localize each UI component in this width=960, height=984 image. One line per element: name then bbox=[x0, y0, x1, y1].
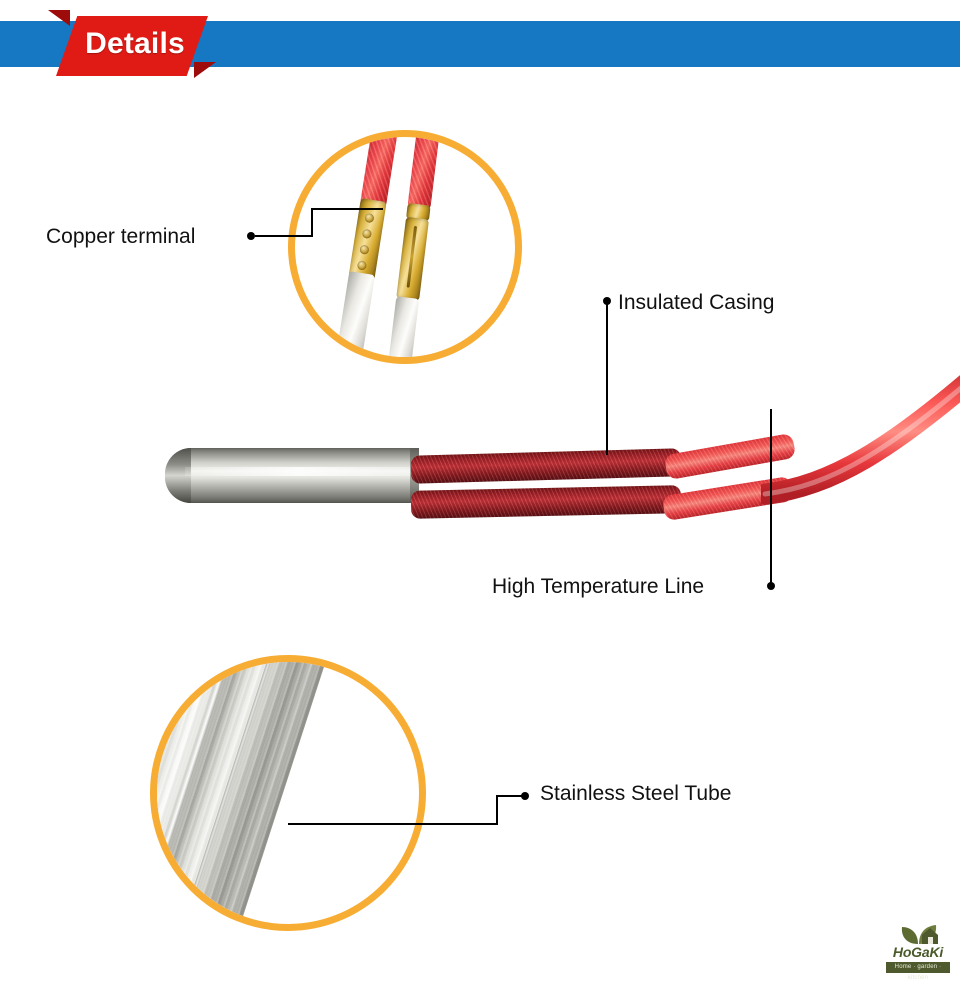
leader-copper-h2 bbox=[311, 208, 383, 210]
callout-label-copper-terminal: Copper terminal bbox=[46, 225, 195, 249]
brand-logo: HoGaKi Home · garden · kitchen bbox=[884, 922, 952, 976]
red-wire-right bbox=[407, 130, 442, 212]
leader-hightemp-v bbox=[770, 409, 772, 585]
page-title: Details bbox=[48, 10, 216, 78]
cartridge-heater-product bbox=[165, 430, 865, 560]
ceramic-sleeve-right bbox=[385, 296, 419, 364]
callout-label-insulated-casing: Insulated Casing bbox=[618, 291, 774, 315]
details-page: Details bbox=[0, 0, 960, 983]
leaf-house-icon bbox=[898, 922, 940, 946]
leader-copper-h1 bbox=[255, 235, 313, 237]
brand-tagline: Home · garden · kitchen bbox=[886, 962, 950, 973]
callout-label-stainless-steel-tube: Stainless Steel Tube bbox=[540, 782, 731, 806]
braided-lead-bottom bbox=[411, 485, 682, 519]
magnified-steel-surface bbox=[150, 655, 356, 931]
magnifier-stainless-tube bbox=[150, 655, 426, 931]
copper-terminal-left bbox=[348, 198, 386, 281]
leader-steel-h1 bbox=[496, 795, 523, 797]
stainless-steel-tube bbox=[165, 448, 419, 503]
leader-steel-h2 bbox=[288, 823, 498, 825]
high-temperature-line-curve bbox=[761, 346, 960, 526]
terminal-left bbox=[334, 130, 399, 364]
details-ribbon: Details bbox=[48, 10, 216, 78]
terminal-right bbox=[389, 130, 442, 363]
leader-insulated-v bbox=[606, 303, 608, 455]
callout-label-high-temperature-line: High Temperature Line bbox=[492, 575, 704, 599]
tube-highlight bbox=[185, 467, 413, 476]
magnifier-copper-terminal bbox=[288, 130, 522, 364]
copper-terminal-right bbox=[396, 217, 429, 301]
braided-lead-top bbox=[411, 448, 682, 484]
brand-name: HoGaKi bbox=[884, 944, 952, 960]
leader-steel-v bbox=[496, 795, 498, 825]
callout-dot-copper-terminal bbox=[247, 232, 255, 240]
leader-copper-v bbox=[311, 208, 313, 237]
ceramic-sleeve-left bbox=[332, 271, 375, 364]
